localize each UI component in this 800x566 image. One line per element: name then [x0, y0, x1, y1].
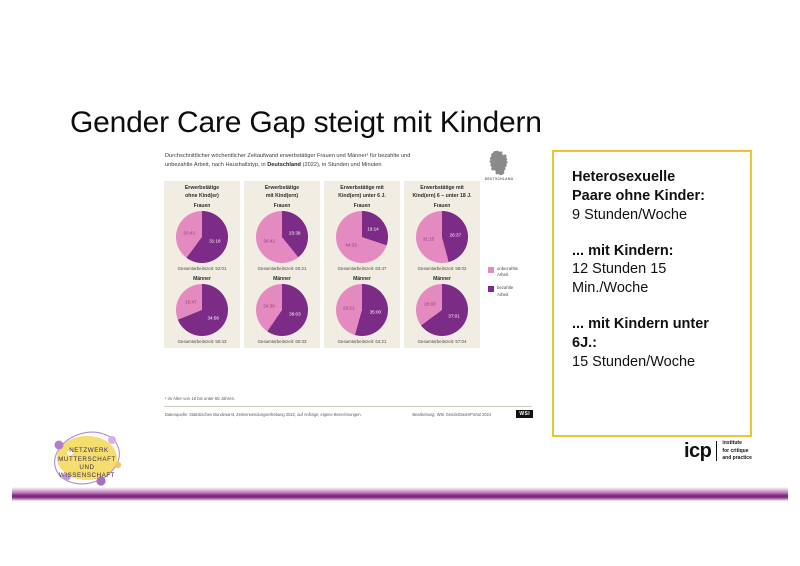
decorative-bottom-bar	[12, 487, 788, 501]
pie-group-women: Frauen23:3936:42Gesamtarbeitszeit: 60:21	[244, 203, 320, 275]
pie-chart: 35:0029:21	[336, 284, 388, 336]
pie-panel: Erwerbstätigeohne Kind(er)Frauen31:1820:…	[164, 181, 240, 348]
germany-map-caption: DEUTSCHLAND	[480, 177, 518, 181]
pie-panel-title: Erwerbstätigeohne Kind(er)	[164, 181, 240, 202]
pie-label-unpaid: 15:47	[185, 300, 197, 305]
pie-panel-title-line1: Erwerbstätige mit	[407, 185, 477, 193]
pie-group-men: Männer37:0120:03Gesamtarbeitszeit: 57:04	[404, 276, 480, 348]
pie-total-label: Gesamtarbeitszeit: 52:01	[164, 263, 240, 275]
pie-total-label: Gesamtarbeitszeit: 57:04	[404, 336, 480, 348]
pie-group-label: Frauen	[324, 203, 400, 209]
pie-group-men: Männer34:5615:47Gesamtarbeitszeit: 50:43	[164, 276, 240, 348]
pie-slices	[256, 211, 308, 263]
pie-label-unpaid: 20:43	[183, 230, 195, 235]
svg-text:NETZWERK: NETZWERK	[69, 447, 109, 454]
pie-group-women: Frauen19:1444:33Gesamtarbeitszeit: 63:47	[324, 203, 400, 275]
pie-group-label: Männer	[404, 276, 480, 282]
pie-slices	[176, 211, 228, 263]
icp-subtitle-line2: for critique	[722, 448, 751, 456]
pie-label-paid: 31:18	[209, 239, 221, 244]
network-logo: NETZWERK MUTTERSCHAFT UND WISSENSCHAFT	[46, 425, 128, 491]
pie-slices	[336, 211, 388, 263]
callout-value-line1: 9 Stunden/Woche	[572, 206, 736, 225]
pie-label-paid: 36:03	[289, 311, 301, 316]
page-title: Gender Care Gap steigt mit Kindern	[70, 106, 542, 140]
callout-heading-line2: 6J.:	[572, 334, 736, 353]
callout-box: HeterosexuellePaare ohne Kinder:9 Stunde…	[552, 150, 752, 437]
pie-panel-title-line1: Erwerbstätige	[167, 185, 237, 193]
pie-label-paid: 34:56	[207, 315, 219, 320]
pie-group-label: Männer	[324, 276, 400, 282]
pie-label-unpaid: 29:21	[343, 306, 355, 311]
pie-chart: 36:0324:30	[256, 284, 308, 336]
chart-source: Datenquelle: Statistisches Bundesamt, Ze…	[165, 412, 412, 417]
svg-text:UND: UND	[79, 464, 94, 471]
legend-label-line2: Arbeit	[497, 272, 518, 278]
pie-chart: 34:5615:47	[176, 284, 228, 336]
callout-value-line2: Min./Woche	[572, 279, 736, 298]
callout-heading-line1: ... mit Kindern:	[572, 242, 736, 261]
pie-group-label: Frauen	[164, 203, 240, 209]
pie-panel-title-line1: Erwerbstätige	[247, 185, 317, 193]
pie-total-label: Gesamtarbeitszeit: 60:33	[244, 336, 320, 348]
pie-panel-title-line2: ohne Kind(er)	[167, 193, 237, 201]
callout-spacer	[572, 225, 736, 242]
callout-value-line1: 12 Stunden 15	[572, 260, 736, 279]
pie-total-label: Gesamtarbeitszeit: 58:02	[404, 263, 480, 275]
callout-spacer	[572, 298, 736, 315]
icp-subtitle: institute for critique and practice	[722, 440, 751, 463]
pie-group-label: Männer	[244, 276, 320, 282]
pie-chart: 37:0120:03	[416, 284, 468, 336]
pie-group-women: Frauen26:3731:25Gesamtarbeitszeit: 58:02	[404, 203, 480, 275]
chart-footnote: ¹ im Alter von 18 bis unter 65 Jahren.	[165, 396, 235, 401]
icp-wordmark: icp	[684, 441, 711, 461]
legend-label: bezahlteArbeit	[497, 285, 513, 297]
pie-label-paid: 19:14	[367, 227, 379, 232]
pie-label-paid: 37:01	[448, 314, 460, 319]
pie-group-women: Frauen31:1820:43Gesamtarbeitszeit: 52:01	[164, 203, 240, 275]
pie-panel-group: Erwerbstätigeohne Kind(er)Frauen31:1820:…	[164, 181, 482, 348]
pie-total-label: Gesamtarbeitszeit: 64:21	[324, 336, 400, 348]
icp-divider	[716, 441, 717, 461]
pie-panel: Erwerbstätige mitKind(ern) 6 – unter 18 …	[404, 181, 480, 348]
pie-panel-title: Erwerbstätigemit Kind(ern)	[244, 181, 320, 202]
pie-panel: Erwerbstätige mitKind(ern) unter 6 J.Fra…	[324, 181, 400, 348]
pie-chart: 19:1444:33	[336, 211, 388, 263]
chart-source-row: Datenquelle: Statistisches Bundesamt, Ze…	[165, 410, 533, 418]
infographic-header: Durchschnittlicher wöchentlicher Zeitauf…	[165, 152, 433, 169]
chart-editor: Bearbeitung: WSI GenderDatenPortal 2024	[412, 412, 516, 417]
pie-chart: 26:3731:25	[416, 211, 468, 263]
legend-item: unbezahlteArbeit	[488, 266, 536, 278]
pie-group-men: Männer36:0324:30Gesamtarbeitszeit: 60:33	[244, 276, 320, 348]
pie-total-label: Gesamtarbeitszeit: 60:21	[244, 263, 320, 275]
pie-group-label: Frauen	[404, 203, 480, 209]
pie-panel-title-line1: Erwerbstätige mit	[327, 185, 397, 193]
pie-total-label: Gesamtarbeitszeit: 50:43	[164, 336, 240, 348]
pie-label-unpaid: 20:03	[424, 301, 436, 306]
icp-logo: icp institute for critique and practice	[684, 440, 752, 463]
pie-panel-title-line2: Kind(ern) 6 – unter 18 J.	[407, 193, 477, 201]
callout-heading-line1: Heterosexuelle	[572, 168, 736, 187]
pie-total-label: Gesamtarbeitszeit: 63:47	[324, 263, 400, 275]
legend-item: bezahlteArbeit	[488, 285, 536, 297]
legend-swatch	[488, 267, 494, 273]
infographic-image: Durchschnittlicher wöchentlicher Zeitauf…	[158, 148, 540, 428]
pie-slices	[176, 284, 228, 336]
callout-heading-line1: ... mit Kindern unter	[572, 315, 736, 334]
pie-group-men: Männer35:0029:21Gesamtarbeitszeit: 64:21	[324, 276, 400, 348]
pie-label-unpaid: 36:42	[264, 239, 276, 244]
pie-label-paid: 23:39	[289, 230, 301, 235]
icp-subtitle-line3: and practice	[722, 455, 751, 463]
icp-subtitle-line1: institute	[722, 440, 751, 448]
infographic-header-line2c: (2022), in Stunden und Minuten	[301, 162, 382, 168]
wsi-logo: WSI	[516, 410, 533, 418]
pie-label-paid: 26:37	[450, 233, 462, 238]
pie-label-unpaid: 31:25	[423, 236, 435, 241]
pie-label-unpaid: 24:30	[263, 304, 275, 309]
legend-label-line2: Arbeit	[497, 292, 513, 298]
svg-text:MUTTERSCHAFT: MUTTERSCHAFT	[58, 456, 116, 463]
pie-slices	[256, 284, 308, 336]
callout-heading-line2: Paare ohne Kinder:	[572, 187, 736, 206]
pie-panel-title: Erwerbstätige mitKind(ern) unter 6 J.	[324, 181, 400, 202]
pie-panel-title: Erwerbstätige mitKind(ern) 6 – unter 18 …	[404, 181, 480, 202]
pie-panel: Erwerbstätigemit Kind(ern)Frauen23:3936:…	[244, 181, 320, 348]
pie-label-unpaid: 44:33	[345, 242, 357, 247]
pie-chart: 23:3936:42	[256, 211, 308, 263]
pie-panel-title-line2: Kind(ern) unter 6 J.	[327, 193, 397, 201]
legend-label: unbezahlteArbeit	[497, 266, 518, 278]
legend-swatch	[488, 286, 494, 292]
pie-slices	[416, 284, 468, 336]
callout-value-line1: 15 Stunden/Woche	[572, 353, 736, 372]
footer-divider	[164, 406, 532, 407]
pie-chart: 31:1820:43	[176, 211, 228, 263]
infographic-header-line1: Durchschnittlicher wöchentlicher Zeitauf…	[165, 153, 399, 159]
pie-label-paid: 35:00	[370, 309, 382, 314]
chart-legend: unbezahlteArbeitbezahlteArbeit	[488, 266, 536, 305]
germany-map-icon: DEUTSCHLAND	[480, 150, 518, 181]
pie-panel-title-line2: mit Kind(ern)	[247, 193, 317, 201]
pie-group-label: Männer	[164, 276, 240, 282]
pie-group-label: Frauen	[244, 203, 320, 209]
infographic-header-country: Deutschland	[267, 162, 301, 168]
legend-label-line1: bezahlte	[497, 285, 513, 291]
svg-text:WISSENSCHAFT: WISSENSCHAFT	[59, 472, 115, 479]
